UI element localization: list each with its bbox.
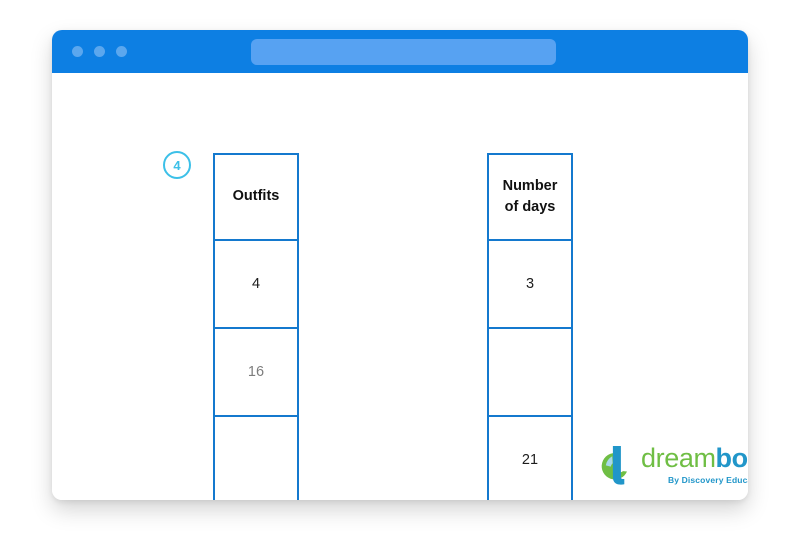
table-row: Number of days bbox=[488, 154, 572, 240]
number-of-days-cell-2[interactable] bbox=[488, 328, 572, 416]
step-number-badge: 4 bbox=[163, 151, 191, 179]
table-row bbox=[214, 416, 298, 500]
logo-word-dream: dream bbox=[641, 443, 716, 473]
browser-window: 4 Outfits 4 16 Number of days bbox=[52, 30, 748, 500]
dreambox-wordmark: dreambox® bbox=[641, 445, 748, 472]
minimize-window-dot-icon[interactable] bbox=[94, 46, 105, 57]
dreambox-logo-text: dreambox® By Discovery Education bbox=[641, 445, 748, 485]
table-row: 16 bbox=[214, 328, 298, 416]
outfits-table: Outfits 4 16 bbox=[213, 153, 299, 500]
logo-word-box: box bbox=[716, 443, 748, 473]
maximize-window-dot-icon[interactable] bbox=[116, 46, 127, 57]
number-of-days-cell-3[interactable]: 21 bbox=[488, 416, 572, 500]
logo-tagline: By Discovery Education bbox=[641, 475, 748, 485]
close-window-dot-icon[interactable] bbox=[72, 46, 83, 57]
window-controls bbox=[72, 46, 127, 57]
outfits-cell-3[interactable] bbox=[214, 416, 298, 500]
table-row bbox=[488, 328, 572, 416]
outfits-cell-1[interactable]: 4 bbox=[214, 240, 298, 328]
table-row: Outfits bbox=[214, 154, 298, 240]
browser-title-bar bbox=[52, 30, 748, 73]
lesson-canvas: 4 Outfits 4 16 Number of days bbox=[52, 73, 748, 500]
address-bar-input[interactable] bbox=[251, 39, 556, 65]
table-row: 21 bbox=[488, 416, 572, 500]
table-row: 3 bbox=[488, 240, 572, 328]
number-of-days-table-header: Number of days bbox=[488, 154, 572, 240]
outfits-table-header: Outfits bbox=[214, 154, 298, 240]
dreambox-logo: dreambox® By Discovery Education bbox=[597, 443, 748, 487]
number-of-days-cell-1[interactable]: 3 bbox=[488, 240, 572, 328]
header-line-1: Number bbox=[503, 178, 558, 194]
dreambox-logo-mark-icon bbox=[597, 443, 639, 487]
number-of-days-table: Number of days 3 21 bbox=[487, 153, 573, 500]
outfits-cell-2[interactable]: 16 bbox=[214, 328, 298, 416]
header-line-2: of days bbox=[505, 199, 556, 215]
table-row: 4 bbox=[214, 240, 298, 328]
